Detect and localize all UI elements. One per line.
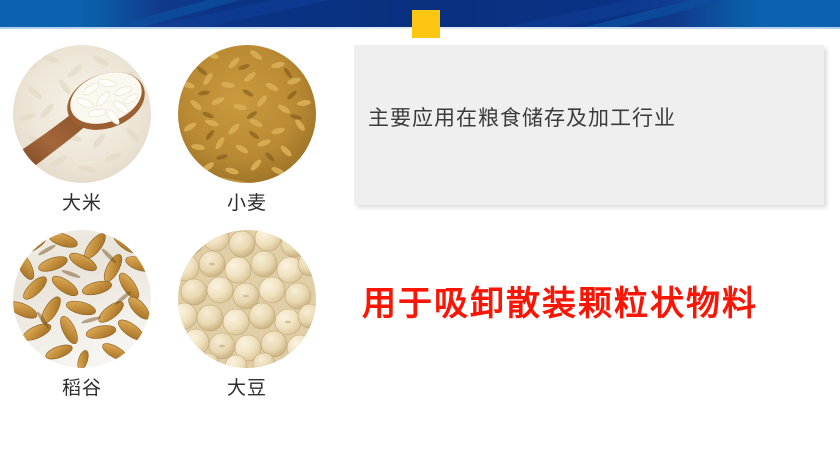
photo-label-paddy: 稻谷 [13, 379, 151, 398]
info-panel: 主要应用在粮食储存及加工行业 [354, 45, 824, 205]
photo-item-rice: 大米 [13, 45, 151, 213]
paddy-rice-photo-icon [13, 230, 151, 368]
photo-grid: 大米 [13, 45, 318, 400]
photo-item-wheat: 小麦 [178, 45, 316, 213]
soybean-photo-icon [178, 230, 316, 368]
headline-red: 用于吸卸散装颗粒状物料 [362, 286, 758, 323]
info-panel-text: 主要应用在粮食储存及加工行业 [368, 108, 676, 129]
photo-label-rice: 大米 [13, 194, 151, 213]
rice-bowl-photo-icon [13, 45, 151, 183]
wheat-grain-photo-icon [178, 45, 316, 183]
photo-label-soybean: 大豆 [178, 379, 316, 398]
slide-canvas: 大米 [0, 0, 840, 464]
photo-item-paddy: 稻谷 [13, 230, 151, 398]
photo-item-soybean: 大豆 [178, 230, 316, 398]
photo-label-wheat: 小麦 [178, 194, 316, 213]
accent-square-icon [412, 10, 440, 38]
